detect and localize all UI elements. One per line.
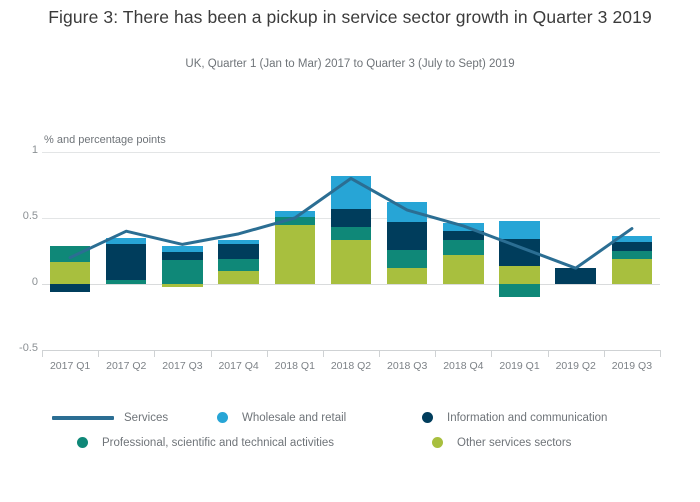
chart-subtitle: UK, Quarter 1 (Jan to Mar) 2017 to Quart… xyxy=(40,58,660,70)
legend-item-label: Professional, scientific and technical a… xyxy=(102,437,334,449)
legend-item[interactable]: Wholesale and retail xyxy=(217,405,346,430)
x-axis-tick-label: 2018 Q4 xyxy=(435,360,491,372)
services-line-path xyxy=(70,178,632,268)
legend-row-2: Professional, scientific and technical a… xyxy=(42,430,682,455)
x-axis-tick-mark xyxy=(604,350,605,357)
legend-row-1: ServicesWholesale and retailInformation … xyxy=(42,405,682,430)
x-axis-tick-mark xyxy=(379,350,380,357)
x-axis-tick-label: 2018 Q1 xyxy=(267,360,323,372)
chart-legend: ServicesWholesale and retailInformation … xyxy=(42,405,682,455)
x-axis-tick-mark xyxy=(548,350,549,357)
x-axis-tick-mark xyxy=(660,350,661,357)
legend-item-label: Wholesale and retail xyxy=(242,412,346,424)
x-axis-tick-label: 2018 Q3 xyxy=(379,360,435,372)
legend-item-label: Services xyxy=(124,412,168,424)
x-axis-tick-label: 2019 Q3 xyxy=(604,360,660,372)
y-axis-tick-label: 0.5 xyxy=(0,210,38,222)
x-axis-tick-mark xyxy=(211,350,212,357)
legend-dot-swatch-icon xyxy=(422,412,433,423)
y-axis-tick-label: -0.5 xyxy=(0,342,38,354)
x-axis-tick-label: 2018 Q2 xyxy=(323,360,379,372)
legend-dot-swatch-icon xyxy=(432,437,443,448)
x-axis-tick-label: 2017 Q3 xyxy=(154,360,210,372)
services-line-series xyxy=(42,152,660,350)
x-axis-tick-label: 2019 Q1 xyxy=(491,360,547,372)
x-axis-tick-labels: 2017 Q12017 Q22017 Q32017 Q42018 Q12018 … xyxy=(42,360,660,380)
legend-item[interactable]: Services xyxy=(52,405,168,430)
plot-area xyxy=(42,152,660,350)
x-axis-tick-mark xyxy=(491,350,492,357)
legend-dot-swatch-icon xyxy=(77,437,88,448)
x-axis-tick-mark xyxy=(435,350,436,357)
legend-dot-swatch-icon xyxy=(217,412,228,423)
legend-item[interactable]: Professional, scientific and technical a… xyxy=(77,430,334,455)
legend-item-label: Other services sectors xyxy=(457,437,571,449)
x-axis-tick-label: 2019 Q2 xyxy=(548,360,604,372)
y-axis-tick-label: 0 xyxy=(0,276,38,288)
x-axis-tick-marks xyxy=(42,350,660,360)
legend-item-label: Information and communication xyxy=(447,412,607,424)
x-axis-tick-mark xyxy=(98,350,99,357)
chart-title: Figure 3: There has been a pickup in ser… xyxy=(40,6,660,29)
x-axis-tick-mark xyxy=(323,350,324,357)
y-axis-tick-label: 1 xyxy=(0,144,38,156)
y-axis-units-label: % and percentage points xyxy=(44,134,166,146)
legend-item[interactable]: Information and communication xyxy=(422,405,607,430)
x-axis-tick-mark xyxy=(154,350,155,357)
figure-container: Figure 3: There has been a pickup in ser… xyxy=(0,0,700,502)
x-axis-tick-label: 2017 Q2 xyxy=(98,360,154,372)
x-axis-tick-label: 2017 Q1 xyxy=(42,360,98,372)
x-axis-tick-label: 2017 Q4 xyxy=(211,360,267,372)
x-axis-tick-mark xyxy=(42,350,43,357)
x-axis-tick-mark xyxy=(267,350,268,357)
legend-line-swatch-icon xyxy=(52,416,114,420)
legend-item[interactable]: Other services sectors xyxy=(432,430,571,455)
